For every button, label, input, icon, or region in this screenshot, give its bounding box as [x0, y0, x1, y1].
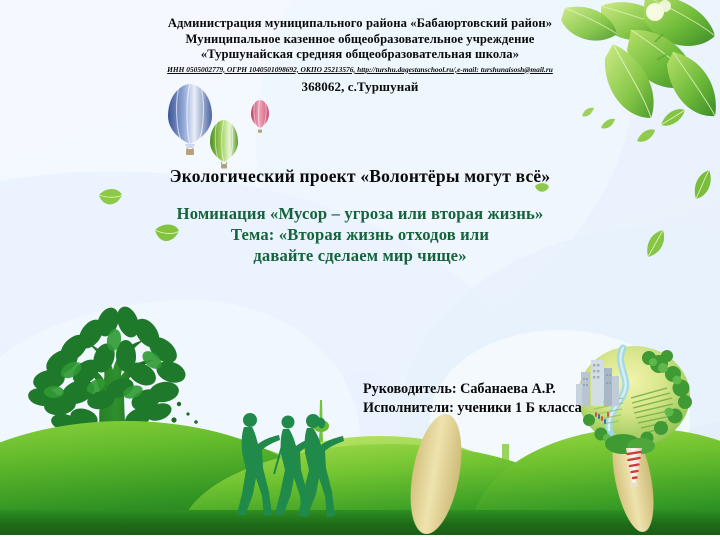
nomination-line-1: Номинация «Мусор – угроза или вторая жиз…: [0, 203, 720, 224]
grass-base-strip: [0, 510, 720, 536]
header-line-school-name: «Туршунайская средняя общеобразовательна…: [0, 47, 720, 63]
header-line-institution: Муниципальное казенное общеобразовательн…: [0, 32, 720, 48]
school-header: Администрация муниципального района «Баб…: [0, 16, 720, 94]
header-line-registration-details: ИНН 0505002779, ОГРН 1040501098692, ОКПО…: [0, 64, 720, 76]
page-title: Экологический проект «Волонтёры могут вс…: [0, 166, 720, 187]
nomination-block: Номинация «Мусор – угроза или вторая жиз…: [0, 203, 720, 266]
nomination-line-3: давайте сделаем мир чище»: [0, 245, 720, 266]
walking-people-silhouettes-icon: [232, 408, 352, 520]
eco-globe-icon: [563, 342, 705, 492]
credits-performers: Исполнители: ученики 1 Б класса: [363, 399, 582, 418]
credits-block: Руководитель: Сабанаева А.Р. Исполнители…: [363, 380, 582, 418]
header-line-administration: Администрация муниципального района «Баб…: [0, 16, 720, 32]
header-line-address: 368062, с.Туршунай: [0, 79, 720, 95]
bottom-white-border: [0, 535, 720, 540]
credits-supervisor: Руководитель: Сабанаева А.Р.: [363, 380, 582, 399]
presentation-slide: Администрация муниципального района «Баб…: [0, 0, 720, 540]
nomination-line-2: Тема: «Вторая жизнь отходов или: [0, 224, 720, 245]
